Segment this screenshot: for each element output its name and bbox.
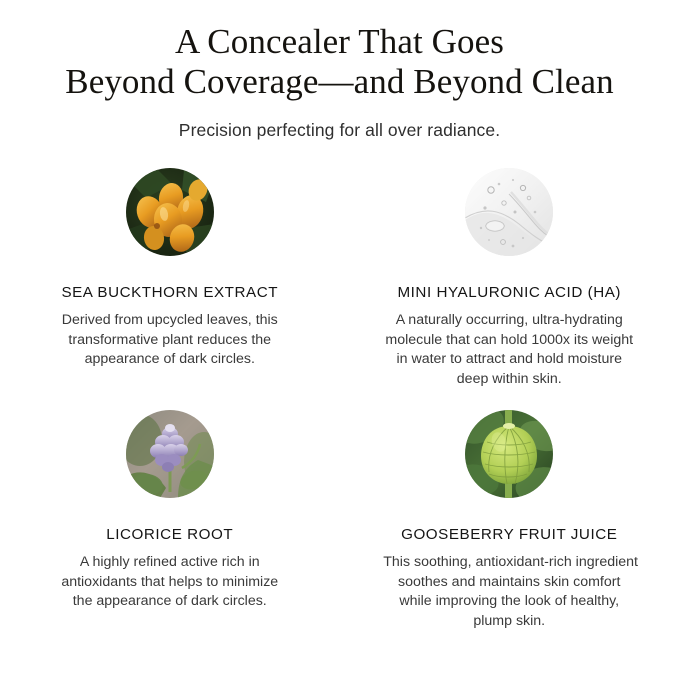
page-subtitle: Precision perfecting for all over radian… <box>0 118 679 142</box>
description-line: soothes and maintains skin comfort <box>383 573 635 593</box>
ingredient-benefits-page: A Concealer That Goes Beyond Coverage—an… <box>0 0 679 679</box>
ingredient-title: MINI HYALURONIC ACID (HA) <box>397 284 621 302</box>
description-line: the appearance of dark circles. <box>61 592 278 612</box>
ingredient-description: A naturally occurring, ultra-hydrating m… <box>385 311 633 389</box>
description-line: antioxidants that helps to minimize <box>61 573 278 593</box>
description-line: This soothing, antioxidant-rich ingredie… <box>383 553 635 573</box>
description-line: deep within skin. <box>385 370 633 390</box>
page-header: A Concealer That Goes Beyond Coverage—an… <box>0 0 679 142</box>
ingredient-title: GOOSEBERRY FRUIT JUICE <box>401 526 617 544</box>
page-title-line-1: A Concealer That Goes <box>28 22 651 62</box>
ingredient-card-sea-buckthorn: SEA BUCKTHORN EXTRACT Derived from upcyc… <box>0 168 340 410</box>
description-line: transformative plant reduces the <box>62 331 278 351</box>
ingredient-description: A highly refined active rich in antioxid… <box>61 553 278 612</box>
ingredient-description: Derived from upcycled leaves, this trans… <box>62 311 278 370</box>
hyaluronic-acid-gel-photo <box>465 168 553 256</box>
description-line: appearance of dark circles. <box>62 350 278 370</box>
description-line: molecule that can hold 1000x its weight <box>385 331 633 351</box>
ingredient-card-hyaluronic-acid: MINI HYALURONIC ACID (HA) A naturally oc… <box>340 168 679 410</box>
sea-buckthorn-berries-photo <box>126 168 214 256</box>
description-line: plump skin. <box>383 612 635 632</box>
page-title-line-2: Beyond Coverage—and Beyond Clean <box>28 62 651 102</box>
page-title: A Concealer That Goes Beyond Coverage—an… <box>0 22 679 102</box>
description-line: A highly refined active rich in <box>61 553 278 573</box>
ingredient-card-gooseberry: GOOSEBERRY FRUIT JUICE This soothing, an… <box>340 410 679 631</box>
ingredient-title: SEA BUCKTHORN EXTRACT <box>61 284 278 302</box>
description-line: while improving the look of healthy, <box>383 592 635 612</box>
licorice-root-flower-photo <box>126 410 214 498</box>
gooseberry-fruit-photo <box>465 410 553 498</box>
description-line: A naturally occurring, ultra-hydrating <box>385 311 633 331</box>
description-line: in water to attract and hold moisture <box>385 350 633 370</box>
description-line: Derived from upcycled leaves, this <box>62 311 278 331</box>
ingredient-card-licorice-root: LICORICE ROOT A highly refined active ri… <box>0 410 340 631</box>
ingredient-description: This soothing, antioxidant-rich ingredie… <box>383 553 635 631</box>
ingredient-title: LICORICE ROOT <box>106 526 233 544</box>
ingredient-grid: SEA BUCKTHORN EXTRACT Derived from upcyc… <box>0 168 679 631</box>
